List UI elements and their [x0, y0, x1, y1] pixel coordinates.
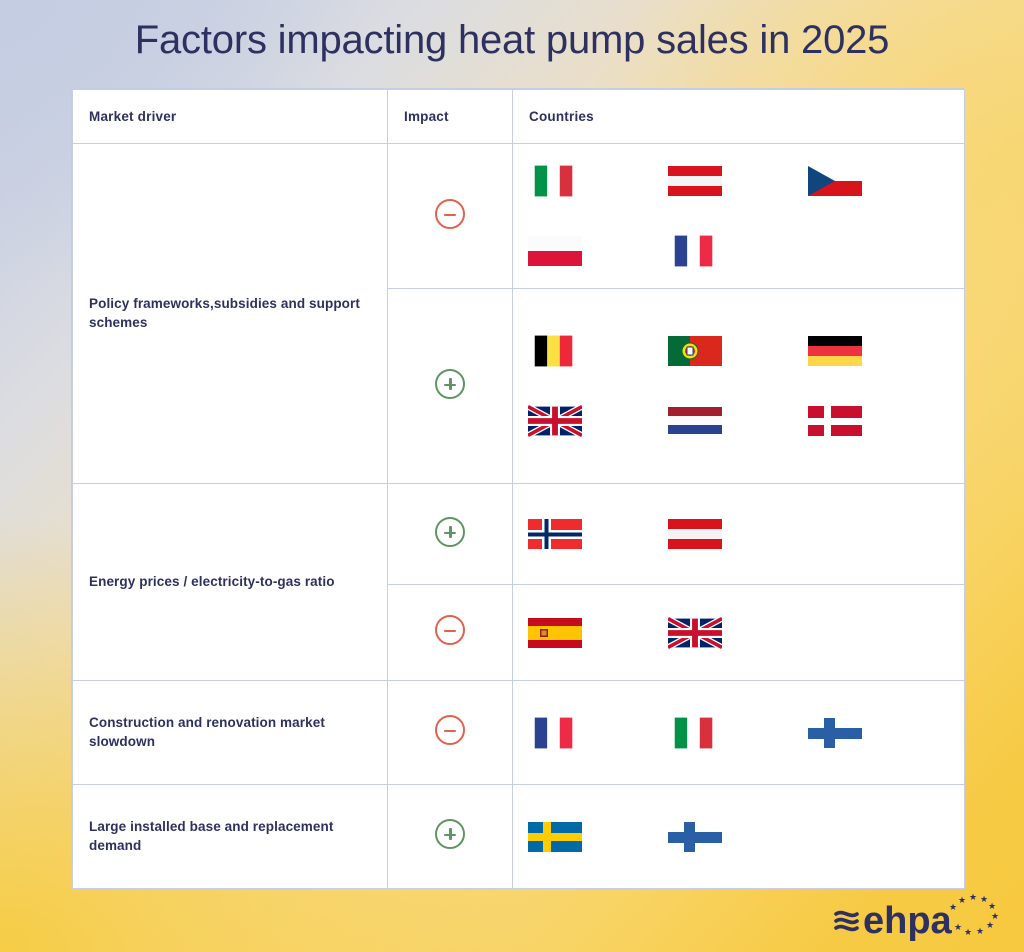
portugal-flag-icon — [668, 333, 722, 369]
netherlands-flag-icon — [668, 403, 722, 439]
market-driver-cell: Energy prices / electricity-to-gas ratio — [73, 484, 388, 681]
flag-poland — [528, 228, 582, 274]
table-row: Policy frameworks,subsidies and support … — [73, 144, 965, 289]
france-flag-icon — [668, 233, 720, 269]
flag-grid — [528, 158, 948, 274]
flag-finland — [668, 814, 722, 860]
factors-table: Market driver Impact Countries Policy fr… — [71, 88, 964, 885]
countries-cell — [513, 785, 965, 889]
infographic-page: Factors impacting heat pump sales in 202… — [0, 0, 1024, 952]
countries-cell — [513, 681, 965, 785]
svg-text:★: ★ — [986, 920, 994, 930]
flag-portugal — [668, 328, 722, 374]
austria-flag-icon — [668, 516, 722, 552]
table-row: Construction and renovation market slowd… — [73, 681, 965, 785]
table-row: Large installed base and replacement dem… — [73, 785, 965, 889]
flag-spain — [528, 610, 582, 656]
flag-norway — [528, 511, 582, 557]
flag-italy — [668, 710, 720, 756]
flag-denmark — [808, 398, 862, 444]
austria-flag-icon — [668, 163, 722, 199]
poland-flag-icon — [528, 233, 582, 269]
flag-grid — [528, 710, 948, 756]
flag-grid — [528, 610, 948, 656]
flag-grid — [528, 511, 948, 557]
market-driver-cell: Large installed base and replacement dem… — [73, 785, 388, 889]
flag-france — [668, 228, 720, 274]
flag-netherlands — [668, 398, 722, 444]
flag-austria — [668, 158, 722, 204]
impact-cell — [388, 289, 513, 484]
impact-cell — [388, 681, 513, 785]
germany-flag-icon — [808, 333, 862, 369]
flag-finland — [808, 710, 862, 756]
market-driver-cell: Policy frameworks,subsidies and support … — [73, 144, 388, 484]
denmark-flag-icon — [808, 403, 862, 439]
belgium-flag-icon — [528, 333, 580, 369]
svg-text:★: ★ — [980, 894, 988, 904]
flag-united-kingdom — [668, 610, 722, 656]
finland-flag-icon — [668, 819, 722, 855]
minus-circle-icon — [435, 715, 465, 745]
svg-text:★: ★ — [976, 926, 984, 936]
minus-circle-icon — [435, 615, 465, 645]
flag-france — [528, 710, 580, 756]
ehpa-logo[interactable]: ehpa ★ ★ ★ ★ ★ ★ ★ ★ ★ ★ — [830, 890, 1002, 946]
plus-circle-icon — [435, 369, 465, 399]
spain-flag-icon — [528, 615, 582, 651]
flag-united-kingdom — [528, 398, 582, 444]
svg-text:★: ★ — [964, 927, 972, 937]
united-kingdom-flag-icon — [668, 615, 722, 651]
svg-text:★: ★ — [949, 902, 957, 912]
column-header-market-driver: Market driver — [73, 90, 388, 144]
flag-grid — [528, 814, 948, 860]
countries-cell — [513, 144, 965, 289]
countries-cell — [513, 484, 965, 585]
market-driver-cell: Construction and renovation market slowd… — [73, 681, 388, 785]
flag-sweden — [528, 814, 582, 860]
plus-circle-icon — [435, 517, 465, 547]
svg-text:★: ★ — [988, 901, 996, 911]
flag-germany — [808, 328, 862, 374]
italy-flag-icon — [668, 715, 720, 751]
italy-flag-icon — [528, 163, 580, 199]
countries-cell — [513, 289, 965, 484]
svg-text:★: ★ — [969, 892, 977, 902]
flag-belgium — [528, 328, 580, 374]
sweden-flag-icon — [528, 819, 582, 855]
united-kingdom-flag-icon — [528, 403, 582, 439]
column-header-countries: Countries — [513, 90, 965, 144]
flag-grid — [528, 328, 948, 444]
minus-circle-icon — [435, 199, 465, 229]
plus-circle-icon — [435, 819, 465, 849]
svg-text:★: ★ — [954, 922, 962, 932]
eu-stars-arc: ★ ★ ★ ★ ★ ★ ★ ★ ★ ★ — [949, 892, 999, 937]
impact-cell — [388, 484, 513, 585]
column-header-impact: Impact — [388, 90, 513, 144]
impact-cell — [388, 144, 513, 289]
impact-cell — [388, 785, 513, 889]
norway-flag-icon — [528, 516, 582, 552]
flag-austria — [668, 511, 722, 557]
svg-text:★: ★ — [958, 895, 966, 905]
czech-republic-flag-icon — [808, 163, 862, 199]
table-body: Policy frameworks,subsidies and support … — [73, 144, 965, 889]
table-header-row: Market driver Impact Countries — [73, 90, 965, 144]
finland-flag-icon — [808, 715, 862, 751]
france-flag-icon — [528, 715, 580, 751]
flag-italy — [528, 158, 580, 204]
impact-cell — [388, 585, 513, 681]
countries-cell — [513, 585, 965, 681]
page-title: Factors impacting heat pump sales in 202… — [0, 18, 1024, 63]
flag-czech-republic — [808, 158, 862, 204]
table-row: Energy prices / electricity-to-gas ratio — [73, 484, 965, 585]
ehpa-wordmark: ehpa — [863, 900, 953, 942]
